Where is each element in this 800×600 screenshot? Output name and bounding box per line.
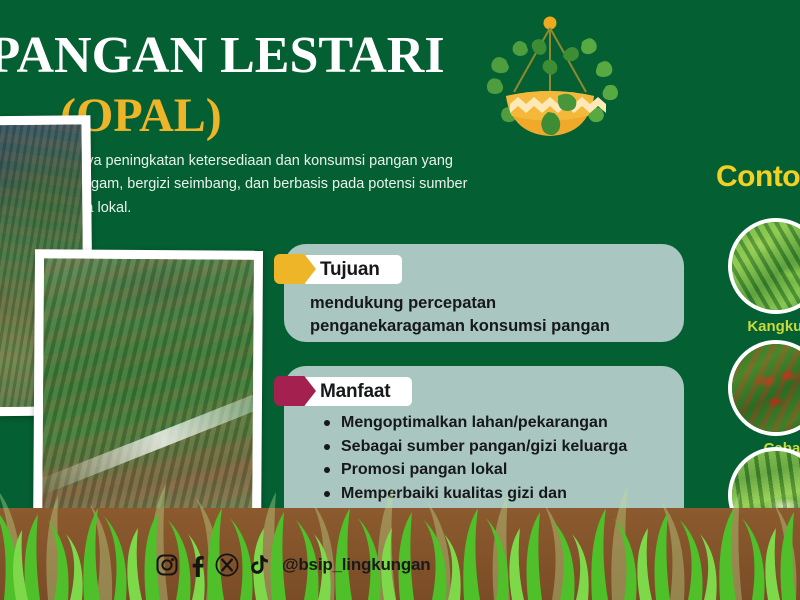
card-manfaat-tab: Manfaat	[274, 376, 412, 406]
tiktok-icon[interactable]	[244, 552, 269, 577]
card-manfaat-label: Manfaat	[302, 377, 412, 406]
poster-canvas: R PANGAN LESTARI (OPAL) upaya peningkata…	[0, 0, 800, 600]
card-tujuan-line-1: mendukung percepatan	[310, 292, 668, 315]
facebook-icon[interactable]	[184, 552, 209, 577]
list-item: Mengoptimalkan lahan/pekarangan	[324, 412, 668, 435]
cabai-photo	[728, 340, 800, 436]
page-title: R PANGAN LESTARI	[0, 30, 498, 82]
x-twitter-icon[interactable]	[214, 552, 239, 577]
kangkung-photo	[728, 218, 800, 314]
examples-title: Contoh	[716, 160, 800, 194]
social-bar: @bsip_lingkungan	[154, 552, 430, 577]
social-handle: @bsip_lingkungan	[282, 555, 430, 575]
example-item-kangkung: Kangkung	[728, 218, 800, 335]
card-tujuan-body: mendukung percepatan penganekaragaman ko…	[310, 292, 668, 338]
card-tujuan-tab: Tujuan	[274, 254, 402, 284]
card-tujuan: Tujuan mendukung percepatan penganekarag…	[284, 244, 684, 342]
instagram-icon[interactable]	[154, 552, 179, 577]
intro-paragraph: upaya peningkatan ketersediaan dan konsu…	[62, 150, 492, 220]
example-label: Kangkung	[728, 318, 800, 335]
card-tujuan-line-2: penganekaragaman konsumsi pangan	[310, 315, 668, 338]
card-tujuan-label: Tujuan	[302, 255, 402, 284]
hanging-planter-icon	[470, 8, 630, 153]
